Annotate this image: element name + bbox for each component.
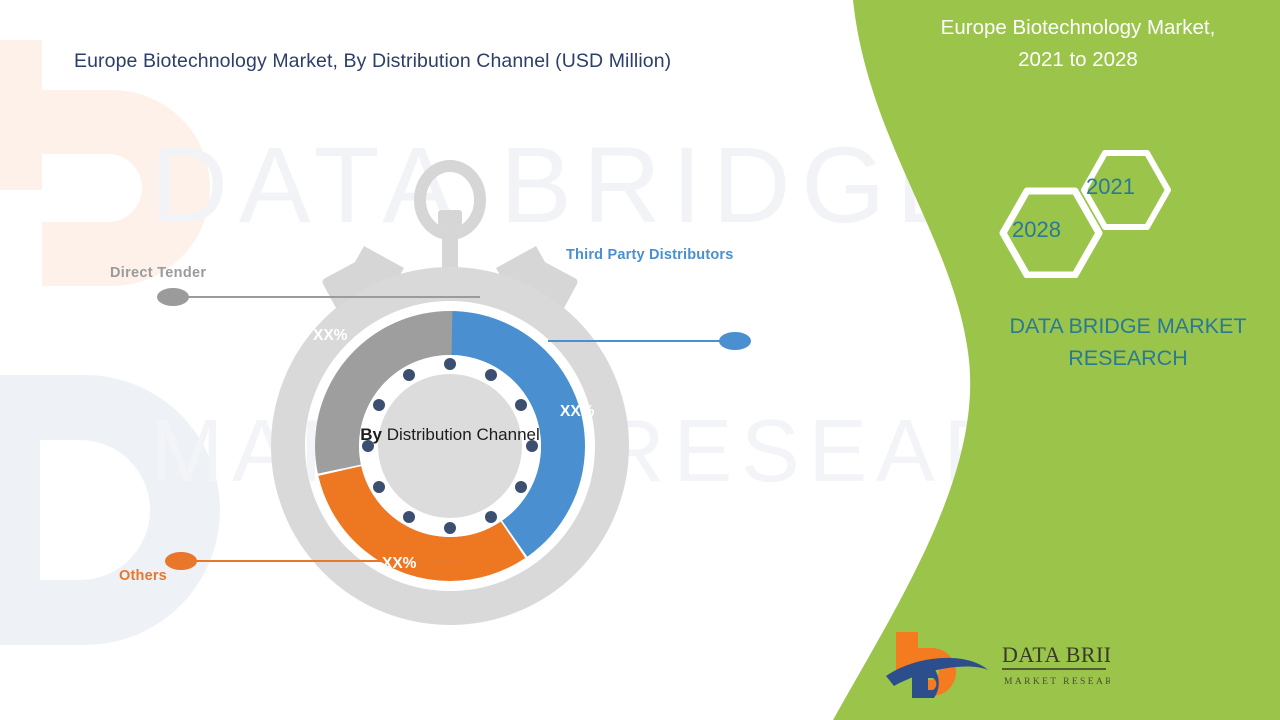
logo-wordmark-bottom: MARKET RESEARCH [1004,677,1110,687]
center-label-prefix: By [360,425,382,444]
panel-title: Europe Biotechnology Market, 2021 to 202… [880,12,1276,76]
leader-dot-direct-tender [157,288,189,306]
logo-wordmark-top: DATA BRIDGE [1002,642,1110,667]
panel-title-line1: Europe Biotechnology Market, [880,12,1276,44]
leader-dot-third-party-distributors [719,332,751,350]
chart-title: Europe Biotechnology Market, By Distribu… [74,50,671,73]
brand-name-line1: DATA BRIDGE MARKET [963,310,1280,342]
infographic-canvas: DATA BRIDGE MARKET RESEARCH Europe Biote… [0,0,1280,720]
callout-label-others: Others [119,568,167,584]
data-bridge-logo-mark-icon: DATA BRIDGE MARKET RESEARCH [884,628,1110,700]
hexagon-2021-label: 2021 [1086,174,1135,200]
leader-line-direct-tender [150,282,480,312]
donut-hub [378,374,522,518]
donut-center-label: By Distribution Channel [252,425,648,445]
brand-name: DATA BRIDGE MARKET RESEARCH [963,310,1280,374]
value-label-others: XX% [382,555,416,573]
data-bridge-logo[interactable]: DATA BRIDGE MARKET RESEARCH [884,628,1110,700]
hexagons-svg [985,143,1185,278]
year-hexagons: 2021 2028 [985,143,1185,278]
value-label-direct-tender: XX% [313,327,347,345]
panel-title-line2: 2021 to 2028 [880,44,1276,76]
value-label-third-party-distributors: XX% [560,403,594,421]
leader-dot-others [165,552,197,570]
brand-name-line2: RESEARCH [963,342,1280,374]
callout-label-third-party-distributors: Third Party Distributors [566,247,734,263]
center-label-rest: Distribution Channel [387,425,540,444]
leader-line-third-party-distributors [548,325,758,357]
callout-label-direct-tender: Direct Tender [110,265,206,281]
hexagon-2028-label: 2028 [1012,217,1061,243]
